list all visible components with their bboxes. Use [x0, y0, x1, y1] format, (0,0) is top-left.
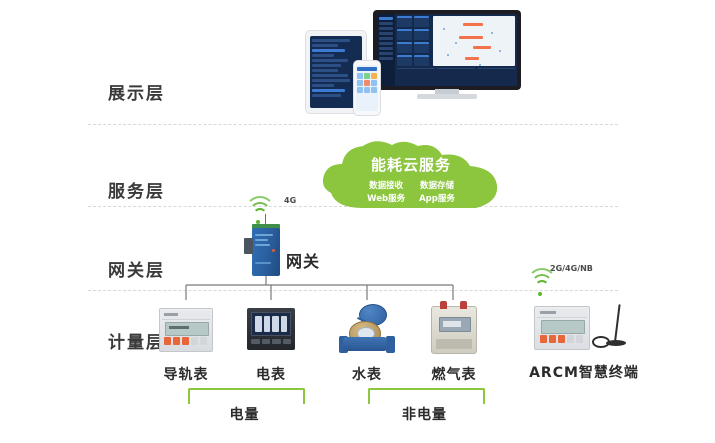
arcm-terminal-label: ARCM智慧终端 [524, 362, 644, 382]
meter-electric: 电表 [228, 302, 314, 384]
bracket-non-electricity [368, 388, 485, 404]
arcm-terminal: 2G/4G/NB ARCM智慧终端 [524, 300, 644, 382]
arcm-device-body [534, 306, 590, 350]
phone-screen [356, 65, 378, 111]
bracket-electricity-label: 电量 [188, 404, 301, 424]
smartphone-icon [353, 60, 381, 116]
wifi-signal-icon [530, 270, 556, 296]
meter-gas-label: 燃气表 [411, 364, 497, 384]
bracket-electricity [188, 388, 305, 404]
water-meter-icon [324, 302, 410, 360]
phone-app-grid [357, 73, 377, 109]
meter-gas: 燃气表 [411, 302, 497, 384]
meter-din-rail-label: 导轨表 [143, 364, 229, 384]
meter-din-rail: 导轨表 [143, 302, 229, 384]
bracket-non-electricity-label: 非电量 [368, 404, 481, 424]
arcm-network-label: 2G/4G/NB [550, 264, 593, 273]
meter-water: 水表 [324, 302, 410, 384]
electric-meter-icon [228, 302, 314, 360]
meter-electric-label: 电表 [228, 364, 314, 384]
din-rail-meter-icon [143, 302, 229, 360]
antenna-icon [592, 304, 626, 350]
arcm-terminal-icon: 2G/4G/NB [524, 300, 644, 358]
gas-meter-icon [411, 302, 497, 360]
meter-water-label: 水表 [324, 364, 410, 384]
architecture-diagram: 展示层 服务层 网关层 计量层 [0, 0, 715, 443]
